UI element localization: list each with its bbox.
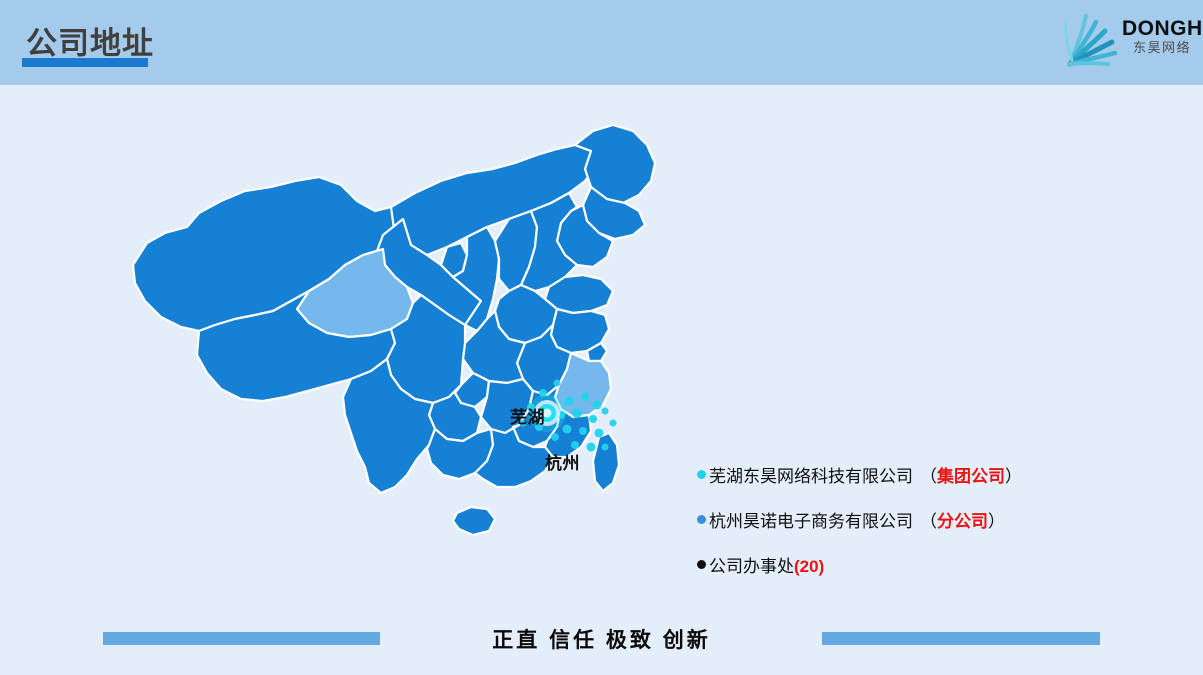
province-heilongjiang	[575, 125, 655, 203]
legend-tag-text: 分公司	[937, 512, 988, 531]
legend-bullet-black	[697, 560, 706, 569]
legend-item-offices: 公司办事处(20)	[697, 552, 1127, 577]
province-taiwan	[593, 433, 619, 491]
paren-close: ）	[1005, 467, 1022, 486]
legend: 芜湖东昊网络科技有限公司 （集团公司） 杭州昊诺电子商务有限公司 （分公司） 公…	[697, 462, 1127, 577]
legend-label-branch-company: 杭州昊诺电子商务有限公司	[709, 507, 913, 532]
paren-close: )	[819, 557, 825, 576]
legend-offices-text: 公司办事处	[709, 557, 794, 576]
slide-root: 公司地址 DONGHAO 东昊网络	[0, 0, 1203, 675]
header-band: 公司地址	[0, 0, 1203, 85]
legend-offices-count: 20	[800, 557, 819, 576]
logo-text-block: DONGHAO 东昊网络	[1122, 18, 1202, 57]
paren-close: ）	[988, 512, 1005, 531]
china-map-svg	[95, 115, 715, 615]
legend-tag-branch-company: （分公司）	[920, 507, 1005, 532]
legend-tag-text: 集团公司	[937, 467, 1005, 486]
logo-subtitle: 东昊网络	[1122, 40, 1202, 57]
footer-bar-right	[822, 632, 1100, 645]
page-title: 公司地址	[26, 18, 154, 63]
legend-item-branch-company: 杭州昊诺电子商务有限公司 （分公司）	[697, 507, 1127, 532]
legend-tag-group-company: （集团公司）	[920, 462, 1022, 487]
paren-open: （	[920, 512, 937, 531]
feather-fan-icon	[1060, 8, 1122, 70]
legend-label-group-company: 芜湖东昊网络科技有限公司	[709, 462, 913, 487]
brand-logo: DONGHAO 东昊网络	[1060, 6, 1196, 78]
map-label-wuhu: 芜湖	[510, 403, 545, 428]
legend-bullet-cyan	[697, 470, 706, 479]
logo-name: DONGHAO	[1122, 18, 1202, 40]
province-hainan	[453, 507, 495, 535]
title-underline	[22, 58, 148, 67]
legend-bullet-blue	[697, 515, 706, 524]
legend-item-group-company: 芜湖东昊网络科技有限公司 （集团公司）	[697, 462, 1127, 487]
map-label-hangzhou: 杭州	[545, 449, 580, 474]
china-map: 芜湖 杭州	[95, 115, 715, 615]
paren-open: （	[920, 467, 937, 486]
legend-label-offices: 公司办事处(20)	[709, 552, 824, 577]
